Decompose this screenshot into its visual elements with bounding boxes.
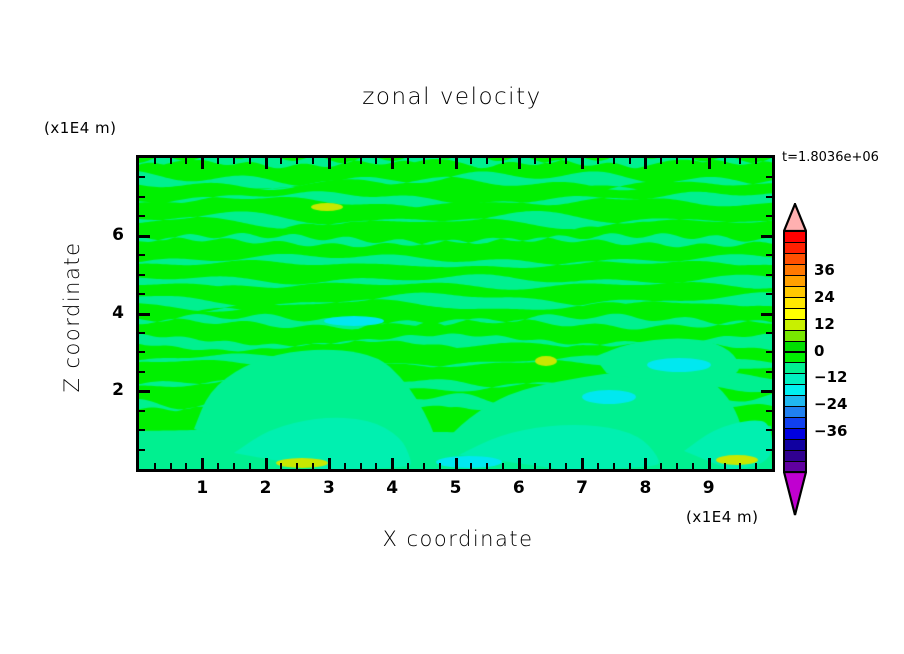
y-major-tick-right [761, 313, 772, 316]
y-minor-tick [139, 176, 145, 178]
x-minor-tick [170, 463, 172, 469]
x-minor-tick-top [676, 158, 678, 164]
x-minor-tick-top [629, 158, 631, 164]
x-minor-tick-top [502, 158, 504, 164]
figure-canvas: zonal velocity (x1E4 m) (x1E4 m) X coord… [0, 0, 904, 654]
x-minor-tick [344, 463, 346, 469]
x-minor-tick [280, 463, 282, 469]
colorbar-tick-label: 12 [814, 315, 835, 333]
x-major-tick-top [328, 158, 331, 169]
x-minor-tick [439, 463, 441, 469]
x-minor-tick-top [407, 158, 409, 164]
contour-field [139, 158, 772, 469]
y-minor-tick [139, 196, 145, 198]
x-minor-tick-top [692, 158, 694, 164]
x-minor-tick-top [217, 158, 219, 164]
x-minor-tick [549, 463, 551, 469]
x-minor-tick-top [154, 158, 156, 164]
colorbar-tick-label: 0 [814, 342, 824, 360]
x-minor-tick-top [739, 158, 741, 164]
x-major-tick [581, 458, 584, 469]
x-minor-tick-top [280, 158, 282, 164]
x-major-tick [328, 458, 331, 469]
x-minor-tick [613, 463, 615, 469]
y-minor-tick-right [766, 449, 772, 451]
x-minor-tick [565, 463, 567, 469]
y-minor-tick [139, 215, 145, 217]
x-minor-tick-top [565, 158, 567, 164]
x-minor-tick [470, 463, 472, 469]
page-title: zonal velocity [0, 84, 904, 110]
y-minor-tick [139, 351, 145, 353]
y-minor-tick [139, 410, 145, 412]
x-minor-tick-top [549, 158, 551, 164]
colorbar [783, 231, 807, 472]
x-major-tick-top [581, 158, 584, 169]
x-minor-tick-top [470, 158, 472, 164]
y-minor-tick-right [766, 371, 772, 373]
y-minor-tick-right [766, 215, 772, 217]
x-major-tick [391, 458, 394, 469]
x-minor-tick-top [439, 158, 441, 164]
x-minor-tick-top [660, 158, 662, 164]
y-major-tick-right [761, 390, 772, 393]
y-major-tick [139, 235, 150, 238]
x-minor-tick [185, 463, 187, 469]
x-minor-tick-top [423, 158, 425, 164]
x-minor-tick-top [249, 158, 251, 164]
x-minor-tick [312, 463, 314, 469]
colorbar-tick-label: 24 [814, 288, 835, 306]
contour-plot-area [136, 155, 775, 472]
x-major-tick [644, 458, 647, 469]
x-major-tick-top [708, 158, 711, 169]
y-major-tick [139, 390, 150, 393]
colorbar-tick-label: −12 [814, 368, 847, 386]
x-tick-label: 2 [253, 478, 279, 498]
x-axis-title: X coordinate [268, 527, 648, 551]
x-minor-tick [296, 463, 298, 469]
y-minor-tick [139, 429, 145, 431]
y-minor-tick-right [766, 410, 772, 412]
colorbar-over-arrow [783, 203, 807, 232]
x-minor-tick [375, 463, 377, 469]
x-minor-tick-top [375, 158, 377, 164]
y-minor-tick-right [766, 429, 772, 431]
y-minor-tick [139, 449, 145, 451]
x-minor-tick [597, 463, 599, 469]
x-minor-tick [423, 463, 425, 469]
y-minor-tick [139, 371, 145, 373]
y-minor-tick-right [766, 176, 772, 178]
x-minor-tick [676, 463, 678, 469]
colorbar-tick-label: −24 [814, 395, 847, 413]
x-minor-tick [360, 463, 362, 469]
x-axis-unit-label: (x1E4 m) [686, 508, 759, 526]
colorbar-tick-label: −36 [814, 422, 847, 440]
y-minor-tick [139, 293, 145, 295]
x-minor-tick [755, 463, 757, 469]
y-axis-title: Z coordinate [60, 227, 84, 407]
x-major-tick [518, 458, 521, 469]
x-minor-tick-top [360, 158, 362, 164]
y-major-tick-right [761, 235, 772, 238]
y-minor-tick [139, 274, 145, 276]
x-minor-tick [407, 463, 409, 469]
x-tick-label: 5 [443, 478, 469, 498]
x-tick-label: 1 [189, 478, 215, 498]
y-axis-unit-label: (x1E4 m) [44, 119, 117, 137]
x-minor-tick [739, 463, 741, 469]
x-minor-tick [249, 463, 251, 469]
x-minor-tick-top [613, 158, 615, 164]
y-minor-tick [139, 254, 145, 256]
x-tick-label: 6 [506, 478, 532, 498]
x-minor-tick-top [170, 158, 172, 164]
x-major-tick-top [201, 158, 204, 169]
x-major-tick [455, 458, 458, 469]
x-minor-tick [660, 463, 662, 469]
x-minor-tick-top [233, 158, 235, 164]
x-minor-tick [154, 463, 156, 469]
x-tick-label: 3 [316, 478, 342, 498]
x-tick-label: 8 [632, 478, 658, 498]
x-major-tick [265, 458, 268, 469]
y-minor-tick-right [766, 351, 772, 353]
x-minor-tick-top [185, 158, 187, 164]
x-major-tick [201, 458, 204, 469]
x-minor-tick-top [296, 158, 298, 164]
x-tick-label: 4 [379, 478, 405, 498]
x-major-tick-top [391, 158, 394, 169]
x-minor-tick [724, 463, 726, 469]
x-major-tick-top [265, 158, 268, 169]
x-minor-tick [629, 463, 631, 469]
x-minor-tick-top [312, 158, 314, 164]
x-minor-tick [233, 463, 235, 469]
y-tick-label: 6 [104, 225, 124, 245]
y-tick-label: 4 [104, 303, 124, 323]
x-major-tick [708, 458, 711, 469]
colorbar-tick-label: 36 [814, 261, 835, 279]
x-tick-label: 7 [569, 478, 595, 498]
x-minor-tick-top [724, 158, 726, 164]
x-tick-label: 9 [696, 478, 722, 498]
colorbar-under-arrow [783, 471, 807, 516]
y-minor-tick-right [766, 293, 772, 295]
y-minor-tick-right [766, 274, 772, 276]
y-major-tick [139, 313, 150, 316]
y-minor-tick-right [766, 332, 772, 334]
y-tick-label: 2 [104, 380, 124, 400]
x-major-tick-top [518, 158, 521, 169]
x-minor-tick-top [597, 158, 599, 164]
x-minor-tick-top [534, 158, 536, 164]
x-minor-tick [534, 463, 536, 469]
x-minor-tick-top [344, 158, 346, 164]
x-minor-tick-top [486, 158, 488, 164]
x-minor-tick [692, 463, 694, 469]
x-minor-tick-top [755, 158, 757, 164]
x-minor-tick [486, 463, 488, 469]
x-minor-tick [217, 463, 219, 469]
y-minor-tick-right [766, 196, 772, 198]
y-minor-tick-right [766, 254, 772, 256]
time-stamp-annotation: t=1.8036e+06 [782, 150, 879, 165]
y-minor-tick [139, 332, 145, 334]
x-major-tick-top [455, 158, 458, 169]
x-minor-tick [502, 463, 504, 469]
x-major-tick-top [644, 158, 647, 169]
